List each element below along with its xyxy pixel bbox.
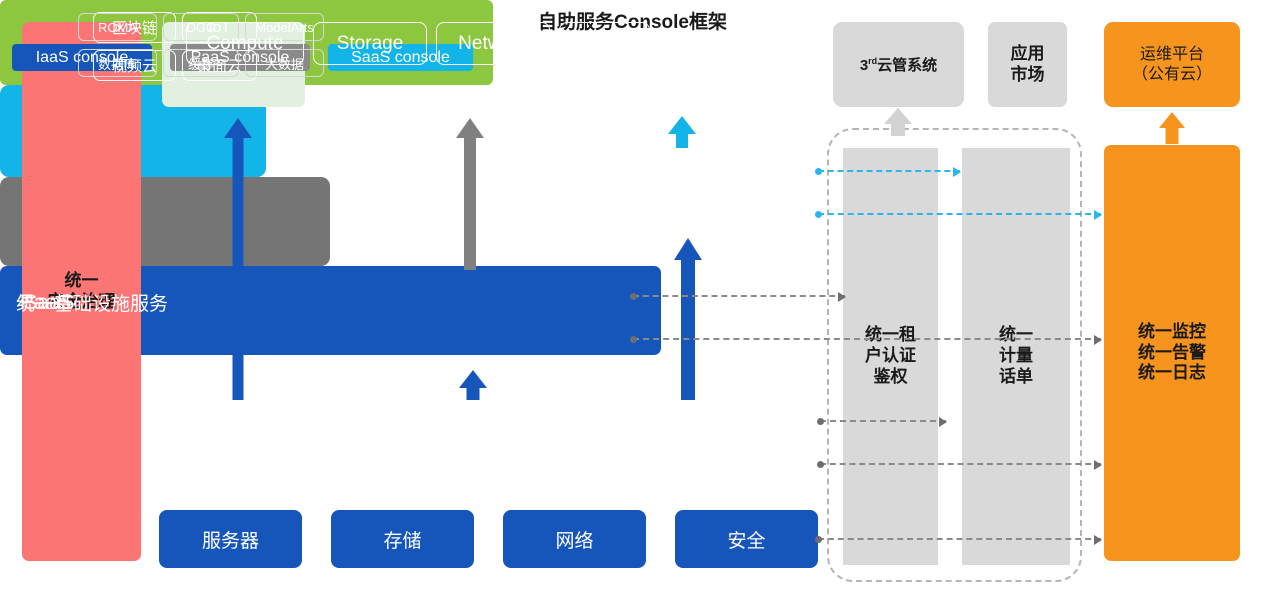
arrow-head-icon: [884, 108, 912, 124]
architecture-diagram: 统一 安全治理 API网关 自助服务Console框架 IaaS console…: [0, 0, 1265, 605]
arrow-shaft: [681, 258, 695, 400]
unified-tenant-auth-label: 统一租 户认证 鉴权: [865, 325, 916, 387]
unified-monitoring-label: 统一监控 统一告警 统一日志: [1138, 322, 1206, 384]
iaas-item-storage-label: Storage: [337, 33, 404, 55]
infra-item-network[interactable]: 网络: [503, 510, 646, 568]
arrow-paas-to-console: [456, 118, 484, 270]
infra-item-storage[interactable]: 存储: [331, 510, 474, 568]
connector-arrow-icon: [1094, 460, 1102, 470]
infra-item-storage-label: 存储: [383, 526, 421, 553]
arrow-shaft: [467, 386, 480, 400]
connector-paas-to-monitoring: [633, 338, 1101, 340]
connector-dot-icon: [815, 168, 822, 175]
connector-dot-icon: [630, 336, 637, 343]
connector-arrow-icon: [939, 417, 947, 427]
connector-saas-to-monitoring: [818, 213, 1101, 215]
arrow-monitoring-to-ops-platform: [1159, 112, 1185, 144]
connector-infrastructure-to-monitoring: [818, 538, 1101, 540]
iaas-item-compute[interactable]: Compute: [186, 22, 304, 65]
connector-arrow-icon: [1094, 535, 1102, 545]
arrow-shaft: [891, 123, 905, 136]
arrow-shaft: [233, 136, 244, 400]
third-party-cloud-mgmt-box[interactable]: 3rd云管系统: [833, 22, 964, 107]
arrow-head-icon: [224, 118, 252, 138]
arrow-head-icon: [1159, 112, 1185, 128]
iaas-layer-label: 统一基础设施服务: [16, 0, 168, 605]
arrow-iaas-to-saas: [674, 238, 702, 400]
arrow-shared-to-third-party-cloud: [884, 108, 912, 136]
infra-item-server[interactable]: 服务器: [159, 510, 302, 568]
arrow-shaft: [464, 136, 476, 270]
connector-arrow-icon: [1094, 210, 1102, 220]
iaas-item-cce-label: CCE: [584, 33, 624, 55]
iaas-item-network[interactable]: Network: [436, 22, 550, 65]
connector-dot-icon: [817, 461, 824, 468]
app-market-label: 应用 市场: [1011, 44, 1045, 85]
connector-arrow-icon: [953, 167, 961, 177]
connector-arrow-icon: [1094, 335, 1102, 345]
arrow-iaas-to-paas: [459, 370, 487, 400]
third-party-cloud-label: 3rd云管系统: [860, 54, 937, 75]
arrow-head-icon: [456, 118, 484, 138]
infra-item-security-label: 安全: [727, 526, 765, 553]
app-market-box[interactable]: 应用 市场: [988, 22, 1067, 107]
arrow-iaas-to-api-gateway: [224, 118, 252, 400]
connector-dot-icon: [630, 293, 637, 300]
unified-monitoring-panel[interactable]: 统一监控 统一告警 统一日志: [1104, 145, 1240, 561]
connector-paas-to-auth: [633, 295, 845, 297]
arrow-shaft: [1166, 127, 1179, 144]
iaas-item-compute-label: Compute: [206, 33, 283, 55]
iaas-item-network-label: Network: [458, 33, 528, 55]
infra-item-server-label: 服务器: [202, 526, 259, 553]
infra-item-security[interactable]: 安全: [675, 510, 818, 568]
ops-platform-label: 运维平台 （公有云）: [1132, 45, 1212, 84]
connector-saas-to-auth: [818, 170, 960, 172]
unified-tenant-auth-column[interactable]: 统一租 户认证 鉴权: [843, 148, 938, 565]
connector-dot-icon: [817, 418, 824, 425]
connector-iaas-to-monitoring: [820, 463, 1101, 465]
arrow-head-icon: [674, 238, 702, 260]
connector-dot-icon: [815, 536, 822, 543]
connector-arrow-icon: [838, 292, 846, 302]
connector-dot-icon: [815, 211, 822, 218]
ops-platform-box[interactable]: 运维平台 （公有云）: [1104, 22, 1240, 107]
unified-billing-column[interactable]: 统一 计量 话单: [962, 148, 1070, 565]
unified-billing-label: 统一 计量 话单: [999, 325, 1033, 387]
iaas-item-cce[interactable]: CCE: [559, 22, 650, 65]
arrow-shaft: [676, 132, 688, 148]
connector-iaas-to-auth: [820, 420, 946, 422]
iaas-layer[interactable]: 统一基础设施服务 Compute Storage Network CCE: [0, 266, 661, 355]
infra-item-network-label: 网络: [555, 526, 593, 553]
arrow-saas-to-console: [668, 116, 696, 148]
iaas-item-storage[interactable]: Storage: [313, 22, 427, 65]
